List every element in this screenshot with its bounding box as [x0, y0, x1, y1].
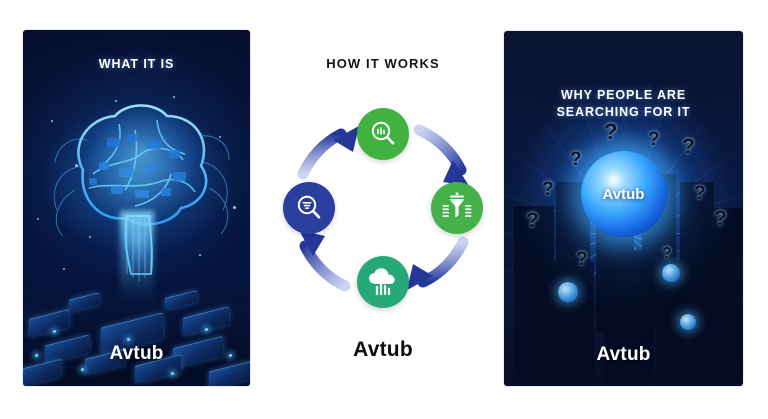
- funnel-filter-data-icon: [441, 192, 473, 224]
- brand-label-right: Avtub: [504, 344, 743, 366]
- question-mark: ?: [542, 179, 554, 201]
- question-mark: ?: [570, 149, 582, 171]
- question-mark: ?: [576, 249, 588, 271]
- arrow-right-to-bottom: [407, 242, 463, 290]
- question-mark: ?: [682, 135, 695, 159]
- cloud-analytics-icon: [367, 267, 399, 297]
- infographic-canvas: WHAT IT IS Avtub HOW IT WORKS: [0, 0, 768, 419]
- question-mark: ?: [694, 183, 706, 205]
- question-mark: ?: [714, 207, 727, 231]
- panel-title-how-it-works: HOW IT WORKS: [262, 56, 504, 71]
- cycle-node-filter[interactable]: [431, 182, 483, 234]
- panel-why-people-are-searching: Avtub ? ? ? ? ? ? ? ? ? ? WHY PEOPLE ARE…: [504, 31, 743, 386]
- cycle-node-discover[interactable]: [283, 182, 335, 234]
- circuit-floor: [23, 268, 250, 386]
- arrow-bottom-to-left: [299, 230, 345, 286]
- magnifier-search-icon: [294, 193, 324, 223]
- panel-title-why-searching: WHY PEOPLE ARE SEARCHING FOR IT: [504, 87, 743, 121]
- cycle-node-collect[interactable]: [357, 108, 409, 160]
- process-cycle-diagram: [283, 108, 483, 308]
- magnifier-lens: [680, 314, 696, 330]
- panel-title-what-it-is: WHAT IT IS: [23, 56, 250, 73]
- brand-label-middle: Avtub: [262, 338, 504, 362]
- question-mark: ?: [526, 209, 539, 233]
- magnifier-lens: [558, 282, 578, 302]
- question-mark: ?: [604, 119, 617, 145]
- panel-how-it-works: HOW IT WORKS: [262, 0, 504, 419]
- orb-label: Avtub: [603, 186, 645, 203]
- magnifier-lens: [662, 264, 680, 282]
- arrow-left-to-top: [303, 126, 359, 174]
- brand-orb: Avtub: [581, 151, 667, 237]
- question-mark: ?: [648, 129, 660, 151]
- panel-what-it-is: WHAT IT IS Avtub: [23, 30, 250, 386]
- brand-label-left: Avtub: [23, 343, 250, 365]
- cycle-node-analyze[interactable]: [357, 256, 409, 308]
- magnifier-data-icon: [368, 119, 398, 149]
- arrow-top-to-right: [419, 130, 469, 186]
- person-silhouette: [550, 262, 594, 386]
- question-mark: ?: [662, 245, 672, 263]
